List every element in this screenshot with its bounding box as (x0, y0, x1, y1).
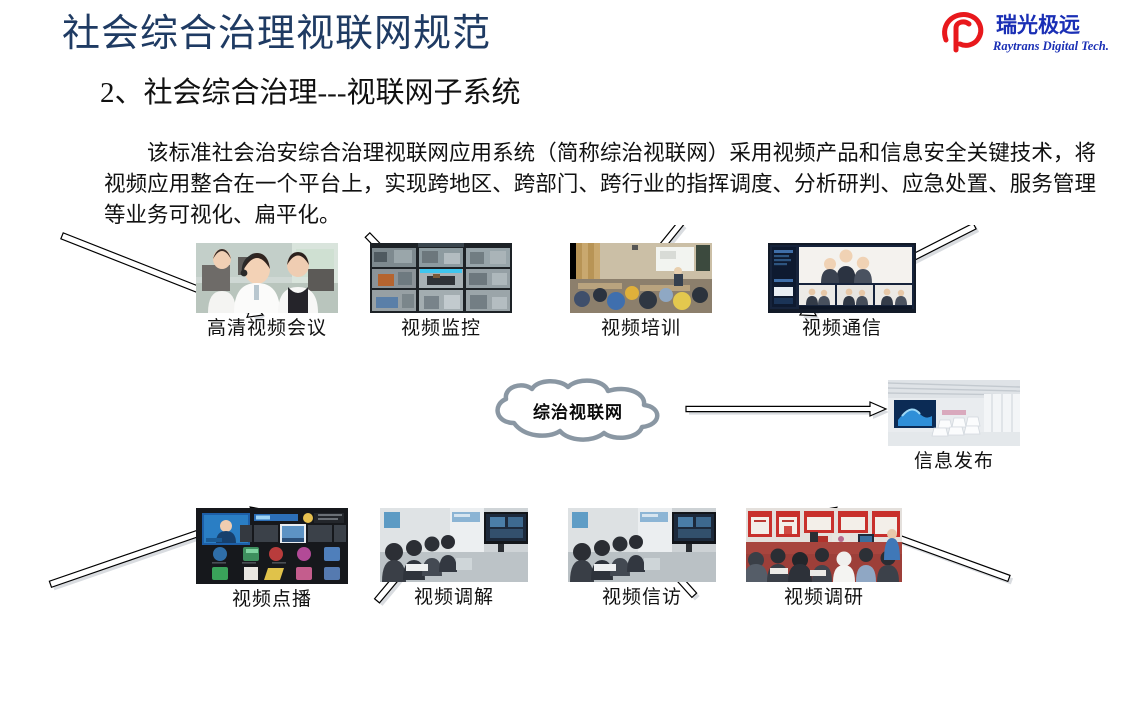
node-label: 视频通信 (768, 317, 916, 341)
arrow-to-information-release (686, 402, 889, 419)
node-video-on-demand[interactable]: 视频点播 (196, 508, 348, 612)
petition-room-image (568, 508, 716, 582)
raytrans-logo: 瑞光极远 Raytrans Digital Tech. (936, 6, 1116, 62)
node-information-release[interactable]: 信息发布 (888, 380, 1020, 474)
body-paragraph: 该标准社会治安综合治理视联网应用系统（简称综治视联网）采用视频产品和信息安全关键… (104, 138, 1096, 231)
mediation-room-image (380, 508, 528, 582)
node-video-research[interactable]: 视频调研 (746, 508, 902, 610)
node-label: 视频点播 (196, 588, 348, 612)
node-label: 视频调研 (746, 586, 902, 610)
node-video-petition[interactable]: 视频信访 (568, 508, 716, 610)
network-diagram: 高清视频会议 (0, 225, 1134, 625)
node-label: 高清视频会议 (196, 317, 338, 341)
node-label: 视频监控 (370, 317, 512, 341)
vod-menu-ui-image (196, 508, 348, 584)
classroom-training-image (570, 243, 712, 313)
conference-ui-image (768, 243, 916, 313)
node-video-mediation[interactable]: 视频调解 (380, 508, 528, 610)
logo-chinese-name: 瑞光极远 (996, 13, 1080, 37)
cctv-grid-9-image (370, 243, 512, 313)
node-label: 视频培训 (570, 317, 712, 341)
led-wall-lobby-image (888, 380, 1020, 446)
section-heading: 2、社会综合治理---视联网子系统 (100, 74, 520, 112)
center-cloud-node[interactable]: 综治视联网 (480, 377, 676, 443)
node-hd-video-conference[interactable]: 高清视频会议 (196, 243, 338, 341)
red-conference-hall-image (746, 508, 902, 582)
page-title: 社会综合治理视联网规范 (62, 10, 491, 58)
call-center-operators-image (196, 243, 338, 313)
node-label: 视频信访 (568, 586, 716, 610)
logo-mark-icon (945, 15, 981, 50)
logo-english-name: Raytrans Digital Tech. (992, 39, 1109, 53)
node-label: 信息发布 (888, 450, 1020, 474)
center-cloud-label: 综治视联网 (480, 377, 676, 443)
node-label: 视频调解 (380, 586, 528, 610)
node-video-communication[interactable]: 视频通信 (768, 243, 916, 341)
node-video-surveillance[interactable]: 视频监控 (370, 243, 512, 341)
node-video-training[interactable]: 视频培训 (570, 243, 712, 341)
